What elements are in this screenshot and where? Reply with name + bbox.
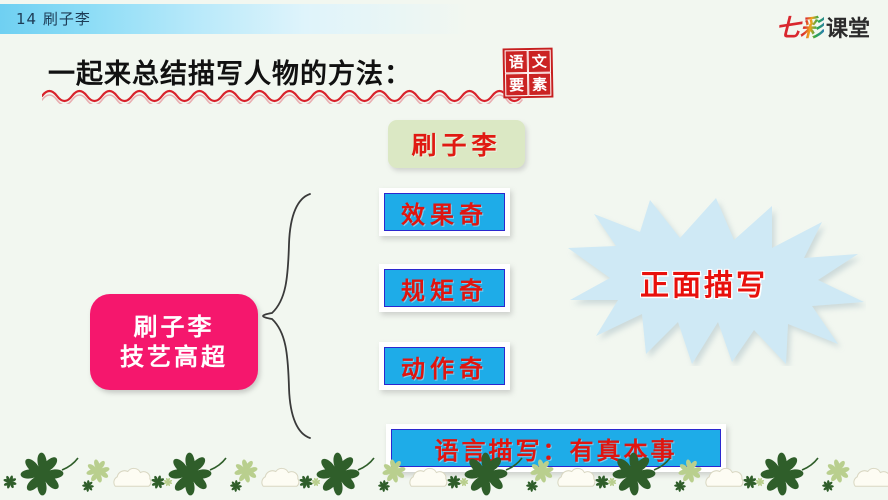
brand-logo-char-2: 彩 [800,8,824,43]
brand-logo: 七 彩 课堂 [776,8,870,43]
stamp-cell-3: 要 [505,73,528,96]
item-box-xiaoguoqi: 效果奇 [379,188,510,236]
clover-border-decoration [0,438,888,500]
item-box-dongzuoqi: 动作奇 [379,342,510,390]
callout-label-zhengmianmiaoxie: 正面描写 [640,262,768,304]
stamp-cell-4: 素 [528,73,551,96]
wavy-underline-icon [42,86,526,104]
item-box-guijuqi-label: 规矩奇 [384,269,505,307]
item-box-dongzuoqi-label: 动作奇 [384,347,505,385]
source-node-line-2: 技艺高超 [120,342,228,372]
yuwen-yaosu-stamp: 语 文 要 素 [503,48,554,99]
stamp-cell-1: 语 [505,50,528,73]
brand-logo-char-1: 七 [776,8,800,43]
topic-box-shuazili: 刷子李 [388,120,525,168]
item-box-xiaoguoqi-label: 效果奇 [384,193,505,231]
stamp-cell-2: 文 [528,50,551,73]
curly-brace-connector [258,192,312,440]
slide-canvas: 14 刷子李 七 彩 课堂 一起来总结描写人物的方法： 语 文 要 素 刷子李 … [0,0,888,500]
item-box-guijuqi: 规矩奇 [379,264,510,312]
brand-logo-char-3: 课堂 [826,11,870,43]
lesson-title: 14 刷子李 [16,8,91,29]
source-node-shuazili: 刷子李 技艺高超 [90,294,258,390]
source-node-line-1: 刷子李 [134,312,215,342]
